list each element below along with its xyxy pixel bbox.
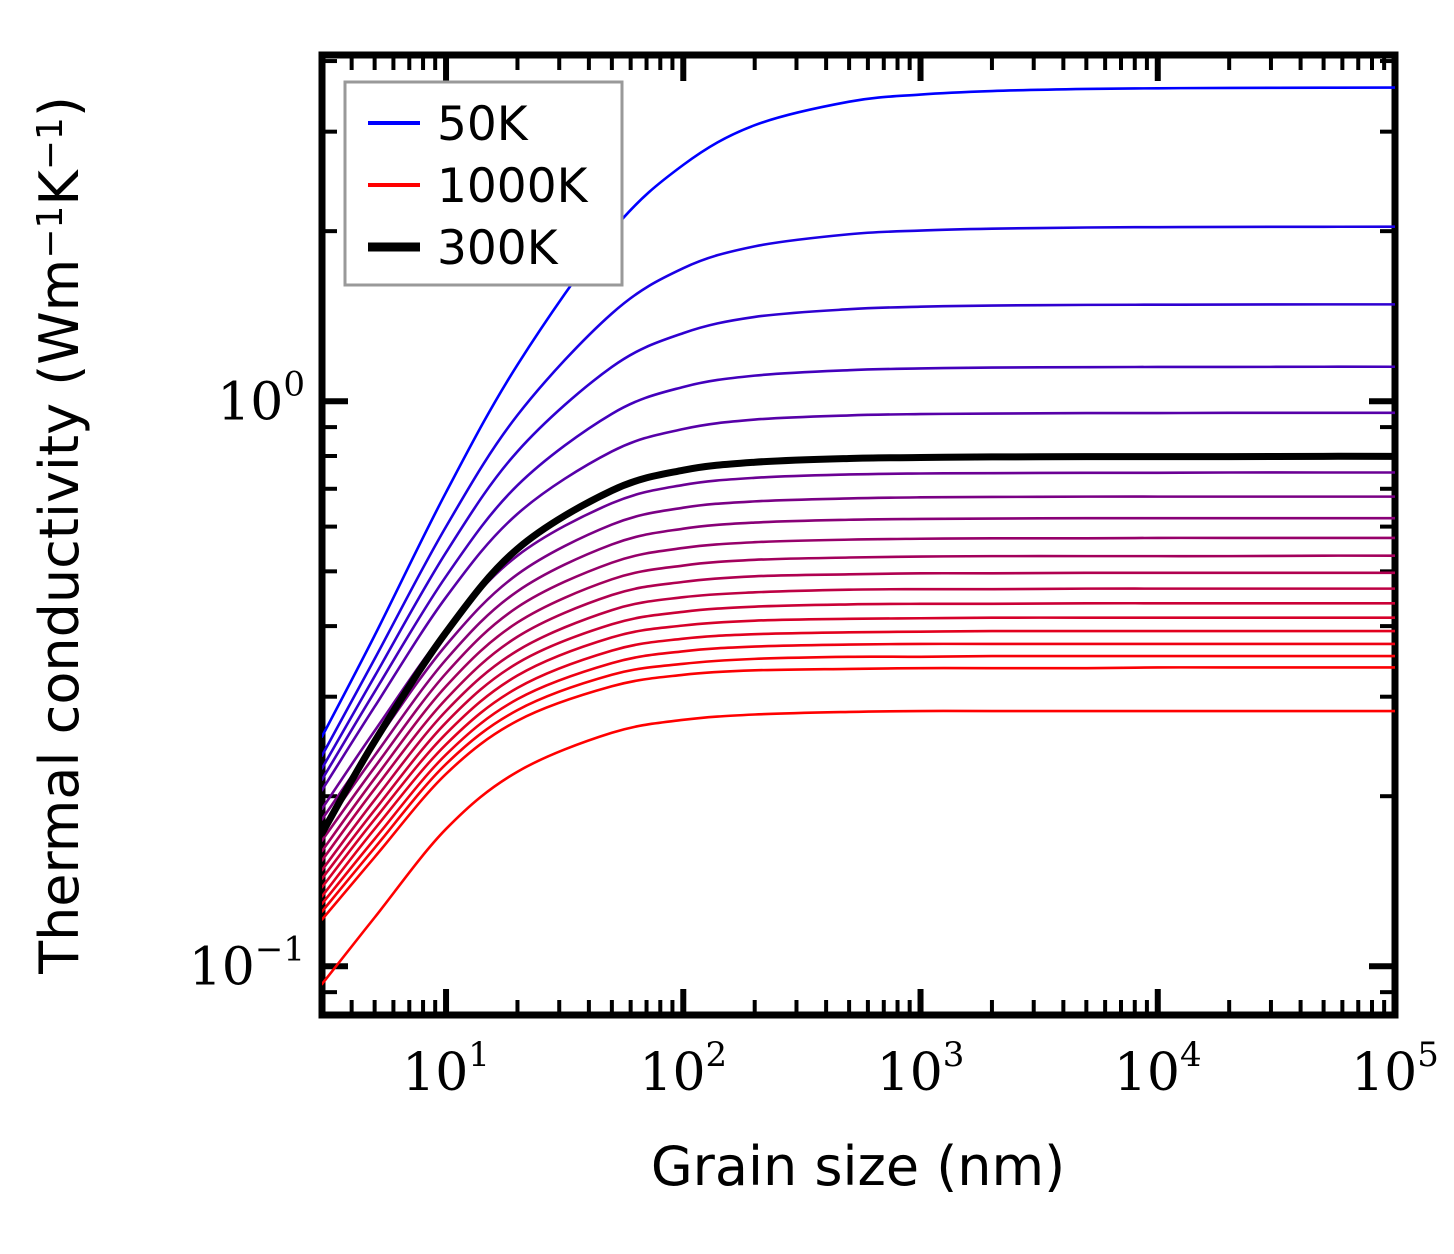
thermal-conductivity-chart: 10110210310410510010−1 Grain size (nm) T… [0,0,1454,1254]
legend-label-1000k: 1000K [437,159,589,214]
legend-label-50k: 50K [437,97,529,152]
legend[interactable]: 50K 1000K 300K [345,82,622,285]
figure-canvas: 10110210310410510010−1 Grain size (nm) T… [0,0,1454,1254]
x-axis-title: Grain size (nm) [651,1135,1065,1198]
legend-label-300k: 300K [437,221,559,276]
